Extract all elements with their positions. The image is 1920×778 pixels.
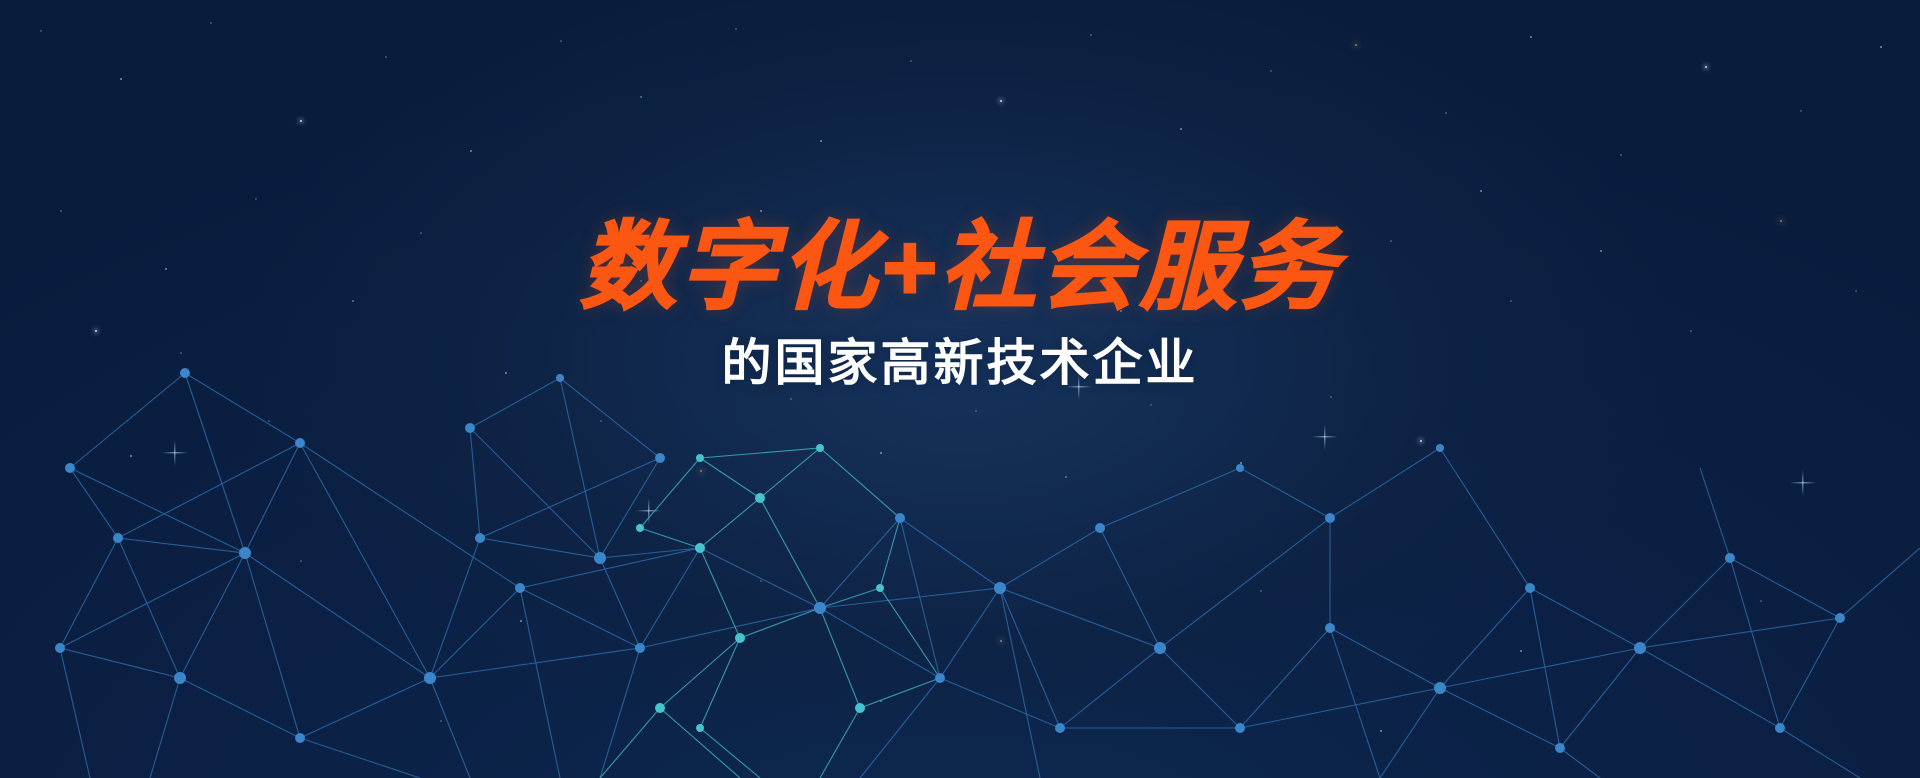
banner-subline: 的国家高新技术企业 <box>0 333 1920 393</box>
network-graphic <box>0 348 1920 778</box>
banner-headline: 数字化+社会服务 <box>0 218 1920 319</box>
banner-text-block: 数字化+社会服务 的国家高新技术企业 <box>0 218 1920 393</box>
hero-banner: 数字化+社会服务 的国家高新技术企业 <box>0 0 1920 778</box>
